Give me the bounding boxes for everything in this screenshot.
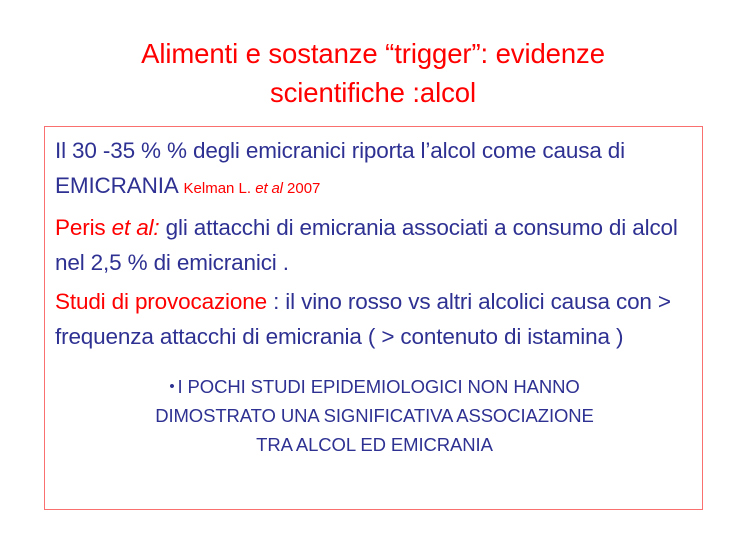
slide-title: Alimenti e sostanze “trigger”: evidenze …: [36, 34, 710, 112]
paragraph-prevalence: Il 30 -35 % % degli emicranici riporta l…: [55, 133, 694, 206]
prevalence-main-text: Il 30 -35 % % degli emicranici riporta l…: [55, 138, 625, 198]
slide: Alimenti e sostanze “trigger”: evidenze …: [0, 0, 746, 560]
paragraph-provocation: Studi di provocazione : il vino rosso vs…: [55, 284, 694, 354]
peris-et-al: et al:: [112, 215, 160, 240]
content-box: Il 30 -35 % % degli emicranici riporta l…: [44, 126, 703, 510]
citation-year: 2007: [283, 180, 321, 197]
slide-title-line-1: Alimenti e sostanze “trigger”: evidenze: [36, 34, 710, 73]
bullet-conclusion-line-3: TRA ALCOL ED EMICRANIA: [55, 430, 694, 459]
bullet-point-icon: •: [169, 378, 174, 395]
bullet-conclusion: •I POCHI STUDI EPIDEMIOLOGICI NON HANNO …: [55, 372, 694, 459]
slide-title-line-2: scientifiche :alcol: [36, 73, 710, 112]
bullet-conclusion-text-1: I POCHI STUDI EPIDEMIOLOGICI NON HANNO: [177, 376, 579, 397]
bullet-conclusion-line-2: DIMOSTRATO UNA SIGNIFICATIVA ASSOCIAZION…: [55, 401, 694, 430]
provocation-heading: Studi di provocazione: [55, 289, 267, 314]
bullet-conclusion-line-1: •I POCHI STUDI EPIDEMIOLOGICI NON HANNO: [55, 372, 694, 401]
content-box-inner: Il 30 -35 % % degli emicranici riporta l…: [55, 133, 694, 459]
citation-author: Kelman L.: [184, 180, 256, 197]
peris-author: Peris: [55, 215, 112, 240]
citation-et-al: et al: [255, 180, 283, 197]
paragraph-peris: Peris et al: gli attacchi di emicrania a…: [55, 210, 694, 280]
